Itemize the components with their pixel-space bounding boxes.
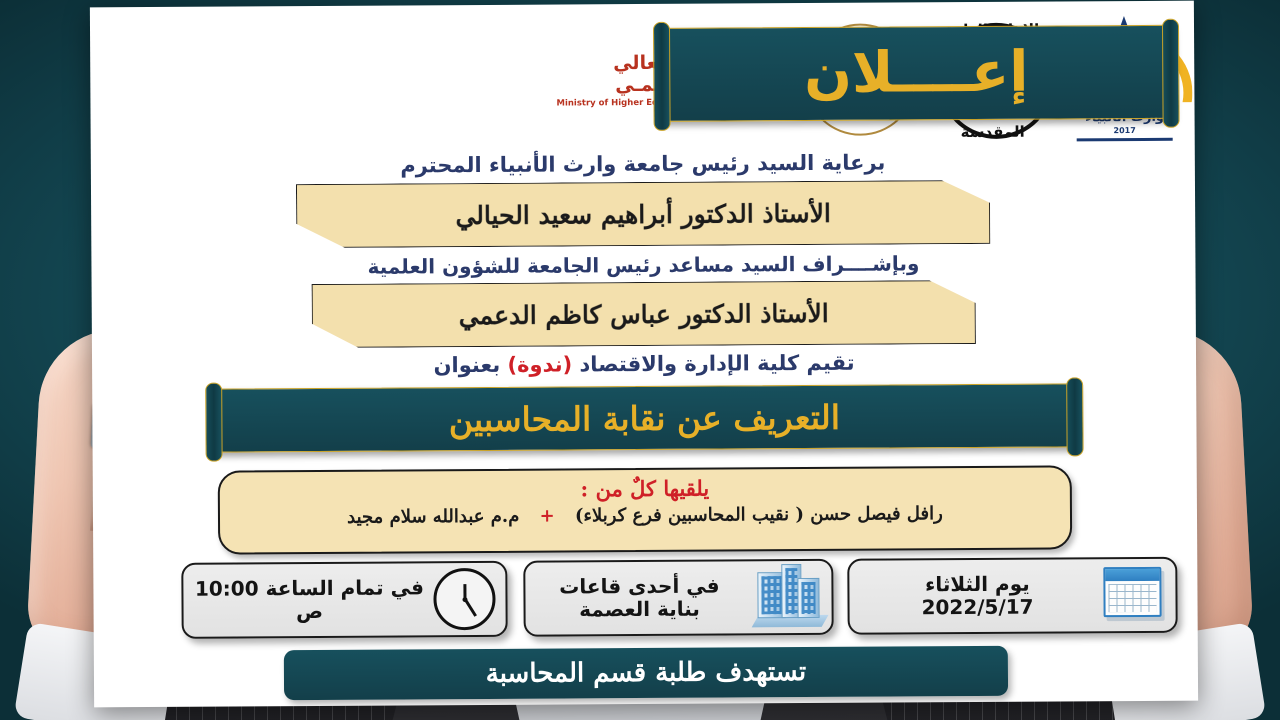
clock-center-pin [462,597,467,602]
supervision-line: وبإشــــراف السيد مساعد رئيس الجامعة للش… [91,250,1195,281]
clock-icon [433,568,495,630]
audience-text: تستهدف طلبة قسم المحاسبة [486,657,807,689]
date-value: 2022/5/17 [859,595,1095,619]
college-line-before: تقيم كلية الإدارة والاقتصاد [579,351,854,377]
time-text: في تمام الساعة 10:00 ص [193,576,425,623]
time-value: في تمام الساعة 10:00 ص [193,576,425,623]
logo-underline [1077,138,1173,142]
date-text: يوم الثلاثاء 2022/5/17 [859,572,1095,619]
venue-line-2: بناية العصمة [535,597,743,621]
calendar-grid [1108,584,1156,612]
calendar-icon [1103,567,1165,623]
college-seminar-line: تقيم كلية الإدارة والاقتصاد (ندوة) بعنوا… [92,349,1196,380]
president-name: الأستاذ الدكتور أبراهيم سعيد الحيالي [455,198,831,229]
vice-president-name: الأستاذ الدكتور عباس كاظم الدعمي [459,298,829,329]
venue-line-1: في أحدى قاعات [535,574,743,598]
speaker-1: رافل فيصل حسن ( نقيب المحاسبين فرع كربلا… [575,503,943,526]
university-logo-year: 2017 [1069,126,1181,136]
venue-text: في أحدى قاعات بناية العصمة [535,574,743,621]
poster-stage: وارث الأنبياء 2017 الامانة العامة العتبة… [0,0,1280,720]
shrine-bottom-text: المقدسة [931,122,1055,141]
speakers-heading: يلقيها كلٌ من : [220,473,1070,503]
president-name-plate: الأستاذ الدكتور أبراهيم سعيد الحيالي [296,180,990,248]
date-day: يوم الثلاثاء [859,572,1095,596]
seminar-title-banner: التعريف عن نقابة المحاسبين [212,383,1076,452]
seminar-keyword: (ندوة) [507,352,572,376]
seminar-title: التعريف عن نقابة المحاسبين [449,397,840,438]
calendar-sheet [1103,567,1161,617]
building-icon [751,567,821,627]
vice-president-name-plate: الأستاذ الدكتور عباس كاظم الدعمي [312,280,976,348]
time-info-box: في تمام الساعة 10:00 ص [181,561,507,639]
speakers-names: رافل فيصل حسن ( نقيب المحاسبين فرع كربلا… [220,502,1070,528]
venue-info-box: في أحدى قاعات بناية العصمة [523,559,833,637]
date-info-box: يوم الثلاثاء 2022/5/17 [847,557,1177,635]
calendar-header-bar [1105,569,1159,581]
patronage-line: برعاية السيد رئيس جامعة وارث الأنبياء ال… [91,149,1195,180]
building-tower [797,578,819,618]
announcement-poster: وارث الأنبياء 2017 الامانة العامة العتبة… [90,1,1198,708]
speakers-box: يلقيها كلٌ من : رافل فيصل حسن ( نقيب الم… [218,465,1072,554]
audience-banner: تستهدف طلبة قسم المحاسبة [284,646,1008,700]
announcement-header-banner: إعــــلان [660,25,1173,122]
speaker-separator: + [540,506,555,527]
speaker-2: م.م عبدالله سلام مجيد [347,506,519,528]
announcement-title: إعــــلان [804,45,1029,102]
college-line-after: بعنوان [434,353,501,377]
